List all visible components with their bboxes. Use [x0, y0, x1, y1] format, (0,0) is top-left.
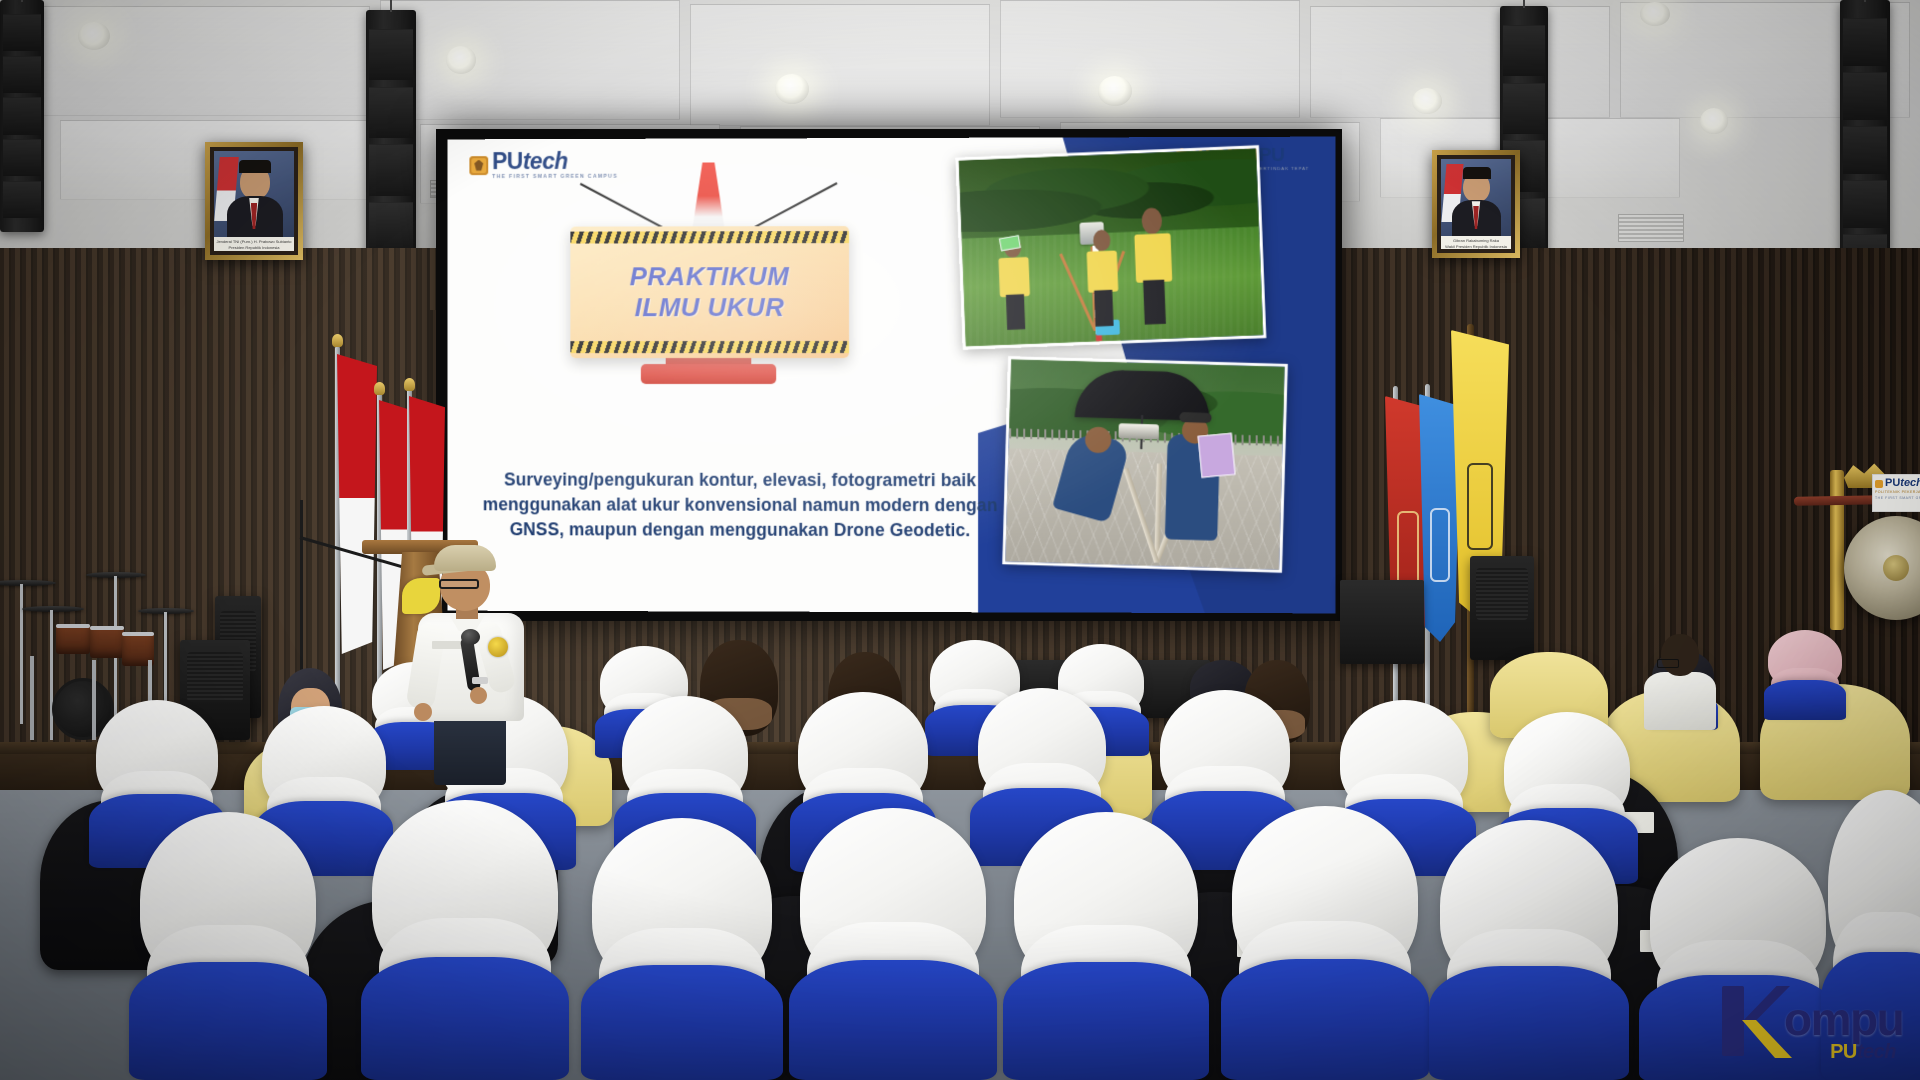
vice-president-portrait: Gibran Rakabuming Raka Wakil Presiden Re…	[1432, 150, 1520, 258]
banner-line1: POLITEKNIK PEKERJAAN UMUM	[1875, 490, 1920, 494]
presenter-speaker	[412, 545, 530, 780]
audience-member	[1232, 806, 1418, 1080]
ceiling-light	[1098, 76, 1132, 106]
theodolite-icon	[1118, 423, 1159, 439]
tom-drum-icon	[90, 626, 124, 658]
putech-word-secondary: tech	[523, 148, 568, 174]
audience-member	[372, 800, 558, 1080]
ceiling-light	[78, 22, 110, 50]
president-portrait: Jenderal TNI (Purn.) H. Prabowo Subianto…	[205, 142, 303, 260]
glasses-icon	[439, 579, 479, 589]
ceiling-light	[1412, 88, 1442, 114]
audience-member	[1440, 820, 1618, 1080]
stage-equipment-box	[1340, 580, 1424, 664]
banner-word-primary: PU	[1885, 477, 1900, 489]
field-surveying-photo	[955, 145, 1266, 350]
projection-screen: PUtech THE FIRST SMART GREEN CAMPUS KEME…	[436, 129, 1342, 621]
putech-word-primary: PU	[492, 148, 523, 174]
audience-member	[1768, 630, 1842, 720]
cymbal-icon	[0, 580, 56, 586]
audience-member	[592, 818, 772, 1080]
kemenpu-word-secondary: PU	[1259, 145, 1285, 166]
ceiling-light	[446, 46, 476, 74]
watermark-sub-secondary: tech	[1857, 1041, 1896, 1063]
putech-mark-icon	[469, 156, 488, 175]
name-tag	[432, 641, 462, 649]
cymbal-icon	[22, 606, 84, 612]
shoulder-badge-icon	[488, 637, 508, 657]
portrait-caption-line2: Wakil Presiden Republik Indonesia	[1441, 244, 1511, 249]
stage-loudspeaker	[1470, 556, 1534, 660]
putech-mark-icon	[1875, 480, 1883, 488]
ceiling-light	[775, 74, 809, 104]
slide-title-line1: PRAKTIKUM	[630, 261, 790, 292]
theodolite-photo	[1002, 356, 1288, 573]
audience-member	[800, 808, 986, 1080]
presentation-slide: PUtech THE FIRST SMART GREEN CAMPUS KEME…	[448, 137, 1336, 614]
line-array-speaker	[0, 0, 44, 232]
kompu-watermark: ompu PUtech	[1722, 982, 1898, 1068]
audience-member-vip	[1644, 634, 1716, 730]
traffic-cone-graphic: PRAKTIKUM ILMU UKUR	[574, 152, 843, 452]
ceiling-light	[1700, 108, 1728, 134]
banner-line2: THE FIRST SMART GREEN CAMPUS	[1875, 496, 1920, 500]
audience-member	[1014, 812, 1198, 1080]
watermark-sub-primary: PU	[1830, 1041, 1857, 1063]
ceiling-vent-icon	[1618, 214, 1684, 242]
banner-word-secondary: tech	[1900, 477, 1920, 489]
ceremonial-gong: PUtech POLITEKNIK PEKERJAAN UMUM THE FIR…	[1800, 440, 1920, 630]
gong-disc-icon	[1844, 516, 1920, 620]
auditorium-photo: Jenderal TNI (Purn.) H. Prabowo Subianto…	[0, 0, 1920, 1080]
portrait-caption-line2: Presiden Republik Indonesia	[214, 245, 294, 251]
ceiling-light	[1640, 2, 1670, 26]
slide-title-sign: PRAKTIKUM ILMU UKUR	[570, 226, 849, 358]
wristwatch-icon	[472, 677, 488, 684]
putech-banner: PUtech POLITEKNIK PEKERJAAN UMUM THE FIR…	[1872, 474, 1920, 512]
watermark-subbrand: PUtech	[1830, 1042, 1896, 1062]
audience-member	[140, 812, 316, 1080]
slide-title-line2: ILMU UKUR	[635, 292, 785, 323]
slide-body-text: Surveying/pengukuran kontur, elevasi, fo…	[481, 468, 999, 543]
tom-drum-icon	[56, 624, 90, 654]
watermark-word: ompu	[1784, 996, 1903, 1042]
clipboard-icon	[1198, 432, 1236, 477]
cap-icon	[434, 545, 496, 571]
